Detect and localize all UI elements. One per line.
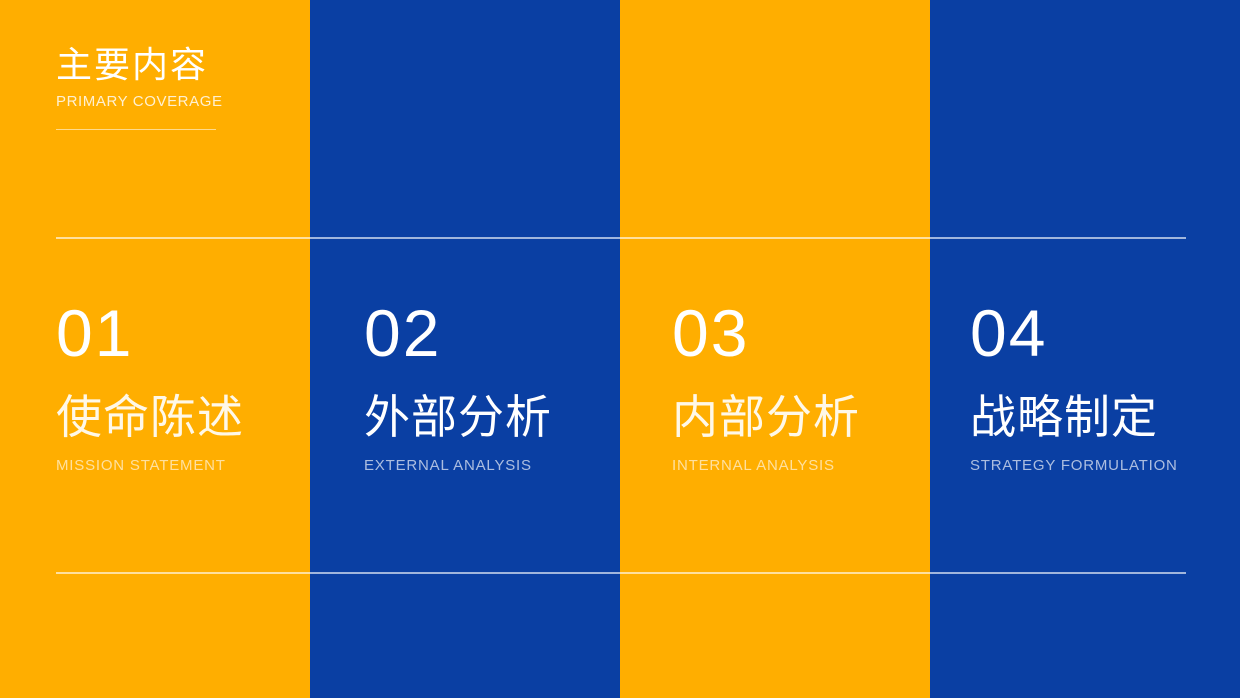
agenda-item-number: 04	[970, 300, 1240, 390]
slide-title-block: 主要内容 PRIMARY COVERAGE	[56, 42, 476, 130]
agenda-item-04[interactable]: 04 战略制定 STRATEGY FORMULATION	[970, 300, 1240, 475]
agenda-item-02[interactable]: 02 外部分析 EXTERNAL ANALYSIS	[364, 300, 664, 475]
slide-title-chinese: 主要内容	[56, 42, 476, 88]
agenda-item-title-chinese: 战略制定	[970, 390, 1240, 444]
agenda-item-title-english: INTERNAL ANALYSIS	[672, 457, 972, 475]
agenda-items: 01 使命陈述 MISSION STATEMENT 02 外部分析 EXTERN…	[0, 300, 1240, 530]
divider-bottom	[56, 572, 1186, 574]
agenda-item-03[interactable]: 03 内部分析 INTERNAL ANALYSIS	[672, 300, 972, 475]
agenda-item-title-english: EXTERNAL ANALYSIS	[364, 457, 664, 475]
agenda-item-title-english: STRATEGY FORMULATION	[970, 457, 1240, 475]
slide-canvas: 主要内容 PRIMARY COVERAGE 01 使命陈述 MISSION ST…	[0, 0, 1240, 698]
agenda-item-number: 02	[364, 300, 664, 390]
divider-top	[56, 237, 1186, 239]
agenda-item-01[interactable]: 01 使命陈述 MISSION STATEMENT	[56, 300, 356, 475]
agenda-item-title-chinese: 外部分析	[364, 390, 664, 444]
agenda-item-number: 03	[672, 300, 972, 390]
agenda-item-title-english: MISSION STATEMENT	[56, 457, 356, 475]
slide-title-english: PRIMARY COVERAGE	[56, 92, 476, 112]
agenda-item-title-chinese: 使命陈述	[56, 390, 356, 444]
agenda-item-number: 01	[56, 300, 356, 390]
title-underline	[56, 129, 216, 130]
agenda-item-title-chinese: 内部分析	[672, 390, 972, 444]
